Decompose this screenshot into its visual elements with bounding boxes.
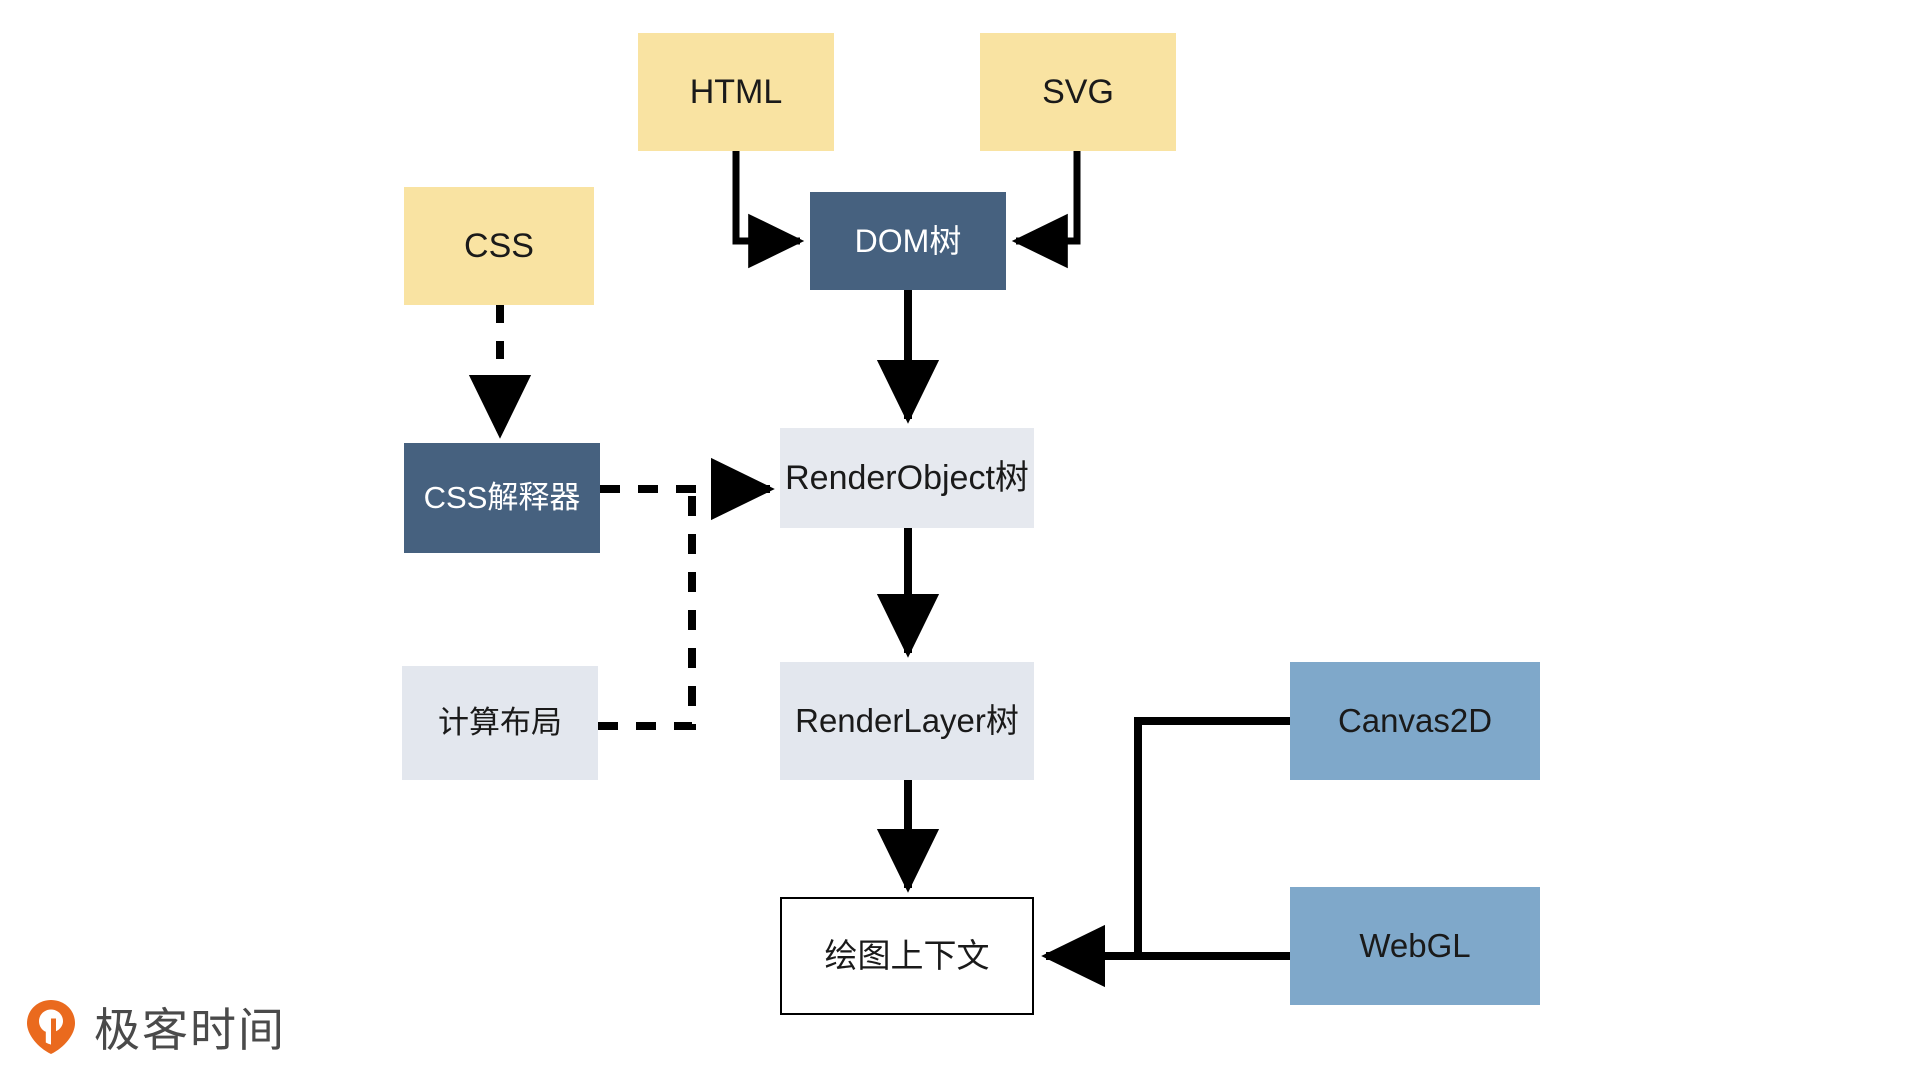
node-canvas2d[interactable]: Canvas2D [1290, 662, 1540, 780]
node-webgl-label: WebGL [1359, 926, 1470, 966]
edge-html-to-dom [736, 151, 800, 241]
node-css-parser-label: CSS解释器 [424, 479, 581, 516]
node-css-parser[interactable]: CSS解释器 [404, 443, 600, 553]
node-paint-context-label: 绘图上下文 [825, 936, 990, 976]
edge-layout-to-renderobject [598, 489, 692, 726]
node-svg[interactable]: SVG [980, 33, 1176, 151]
node-dom-tree[interactable]: DOM树 [810, 192, 1006, 290]
node-compute-layout[interactable]: 计算布局 [402, 666, 598, 780]
node-renderobject-tree[interactable]: RenderObject树 [780, 428, 1034, 528]
geektime-wordmark: 极客时间 [94, 994, 286, 1060]
edge-svg-to-dom [1016, 151, 1077, 241]
node-renderobject-tree-label: RenderObject树 [785, 458, 1029, 499]
node-dom-tree-label: DOM树 [855, 222, 962, 260]
diagram-canvas: HTML SVG CSS DOM树 CSS解释器 RenderObject树 计… [0, 0, 1920, 1080]
geektime-logo: 极客时间 [22, 994, 286, 1060]
geektime-pin-icon [22, 998, 80, 1056]
node-css-label: CSS [464, 226, 534, 267]
node-webgl[interactable]: WebGL [1290, 887, 1540, 1005]
node-html-label: HTML [690, 72, 783, 113]
node-paint-context[interactable]: 绘图上下文 [780, 897, 1034, 1015]
node-compute-layout-label: 计算布局 [438, 704, 562, 741]
node-css[interactable]: CSS [404, 187, 594, 305]
edge-canvas-webgl-to-paintcontext [1046, 721, 1290, 956]
node-html[interactable]: HTML [638, 33, 834, 151]
node-canvas2d-label: Canvas2D [1338, 701, 1492, 741]
node-renderlayer-tree-label: RenderLayer树 [795, 701, 1019, 741]
node-svg-label: SVG [1042, 72, 1114, 113]
node-renderlayer-tree[interactable]: RenderLayer树 [780, 662, 1034, 780]
